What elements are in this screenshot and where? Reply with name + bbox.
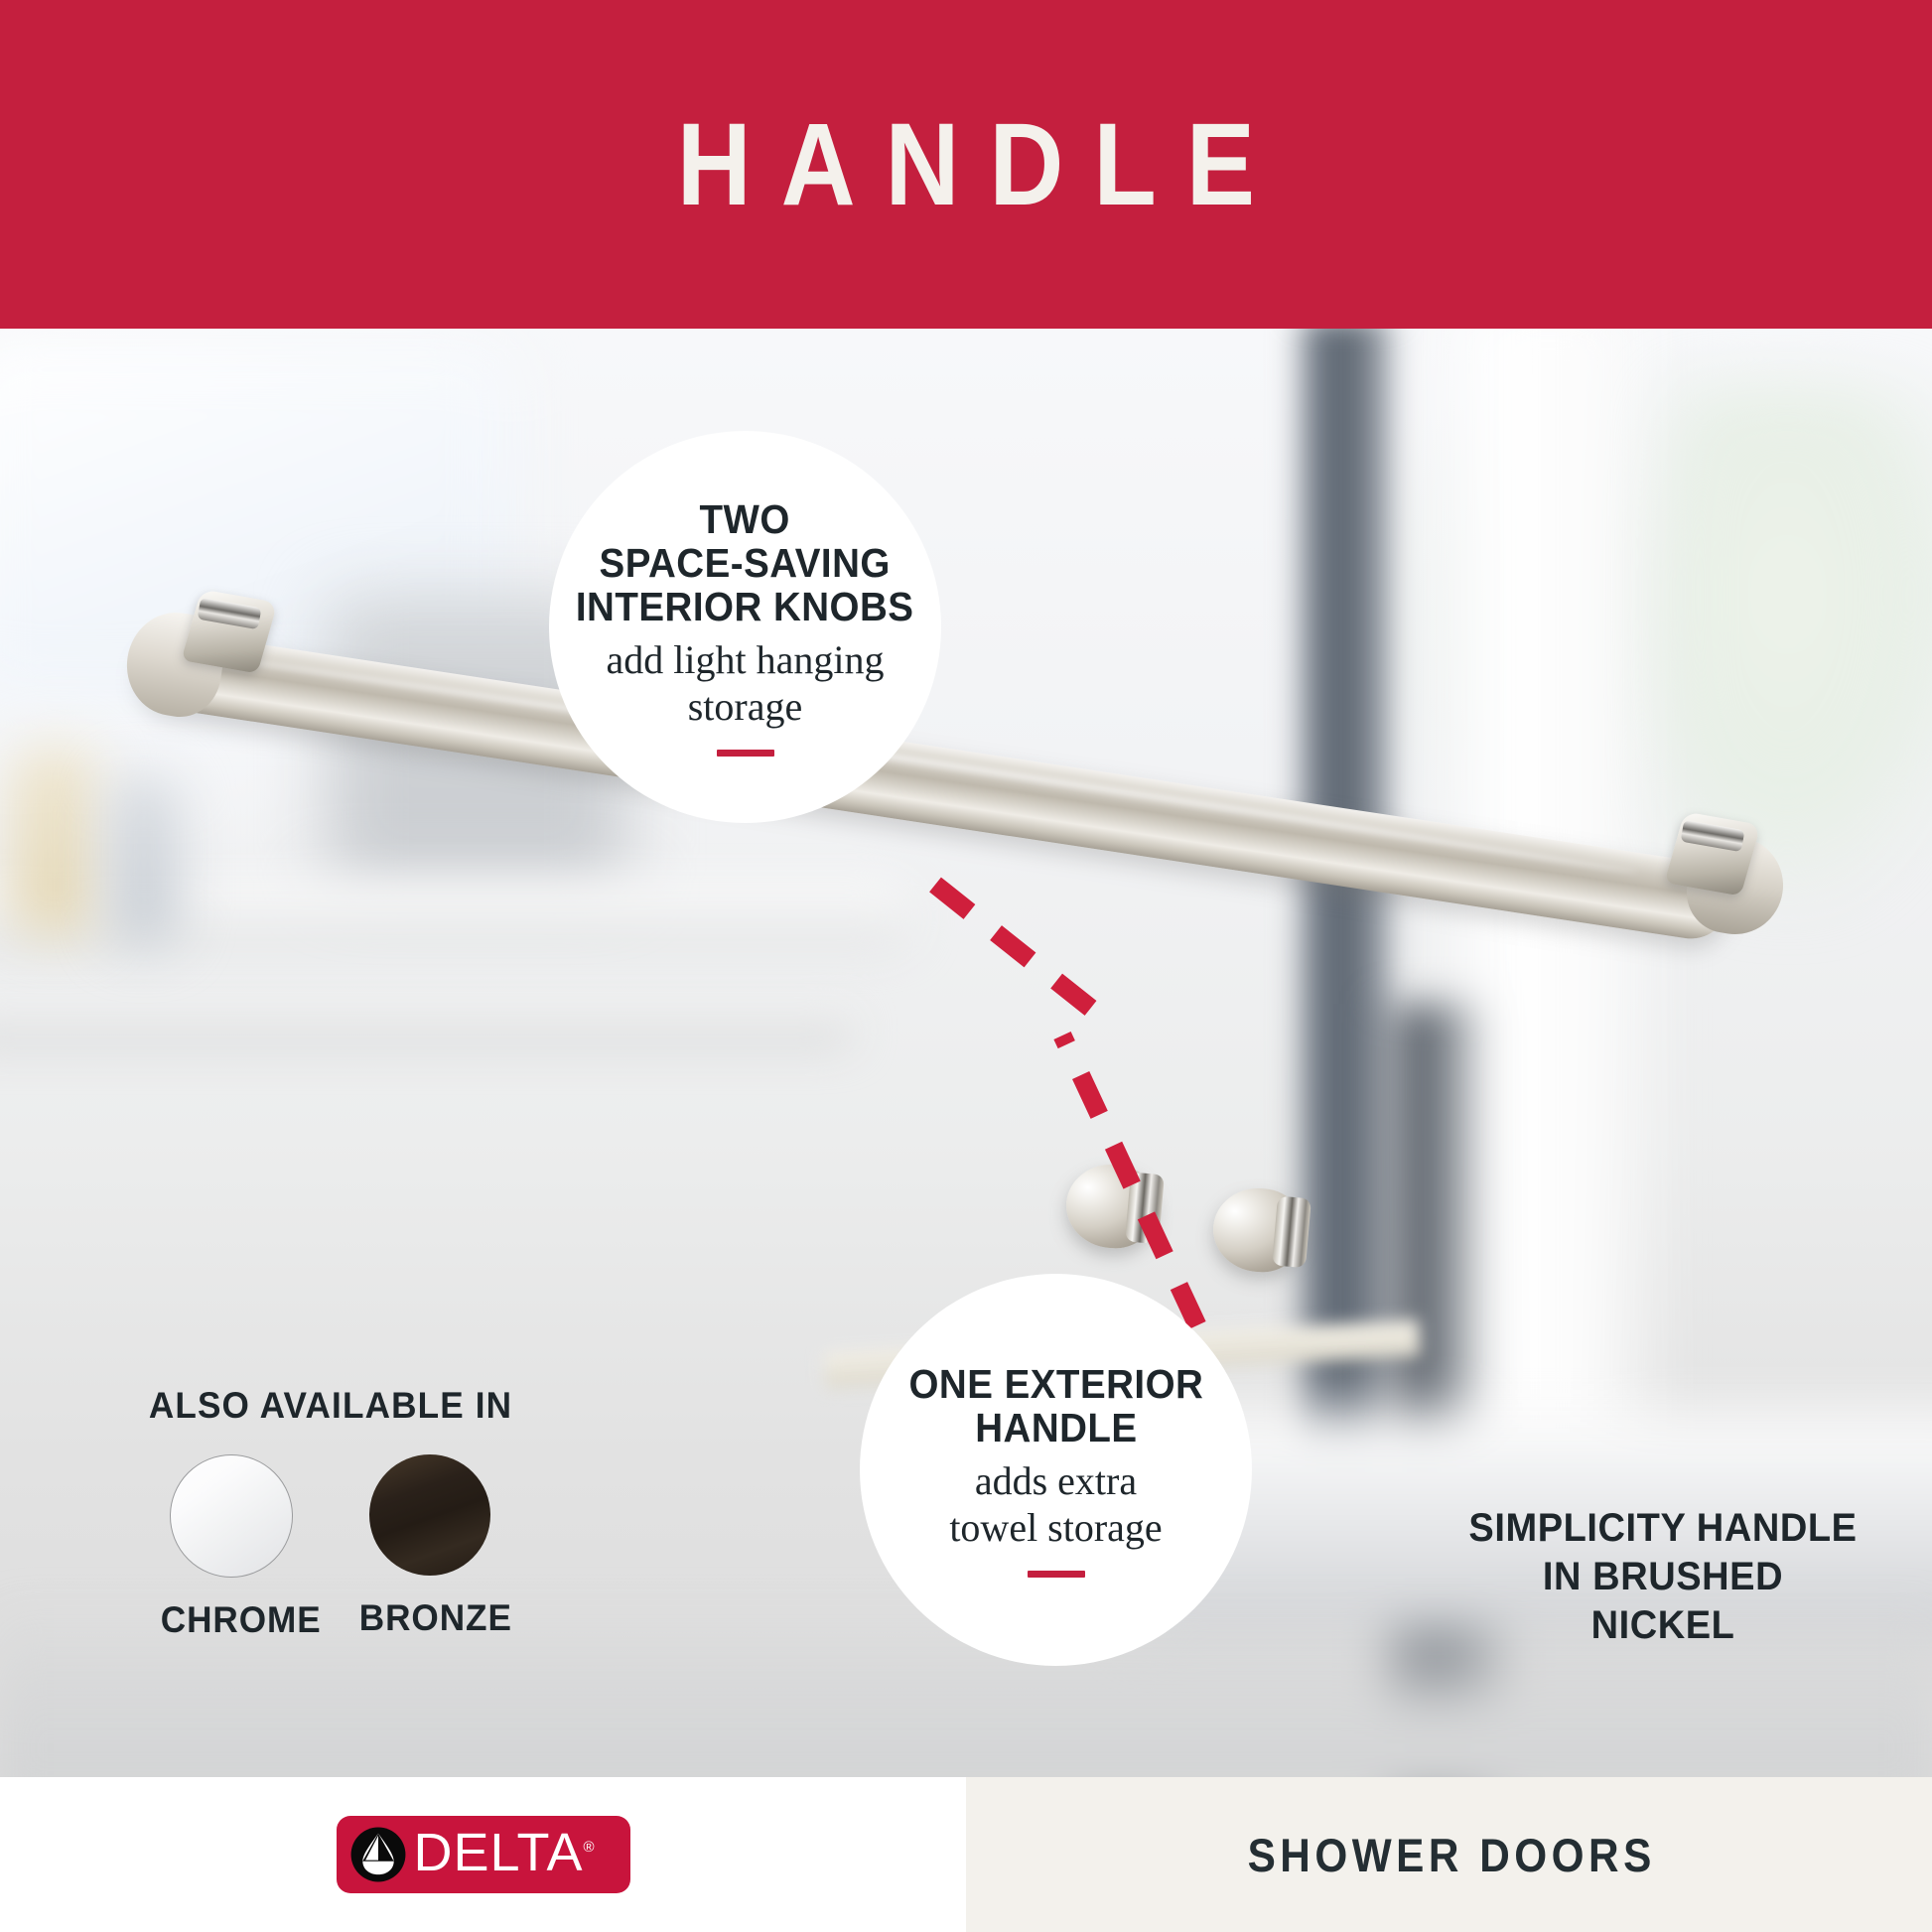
finish-label: BRONZE bbox=[359, 1597, 501, 1639]
footer-brand-area: DELTA® bbox=[0, 1777, 966, 1932]
finish-option-chrome[interactable]: CHROME bbox=[157, 1454, 306, 1641]
callout-subtext-line: adds extra bbox=[949, 1457, 1162, 1504]
marketing-infographic: HANDLE bbox=[0, 0, 1932, 1932]
callout-subtext-line: storage bbox=[607, 683, 885, 730]
bronze-swatch-icon bbox=[369, 1454, 490, 1576]
callout-interior-knobs: TWO SPACE-SAVING INTERIOR KNOBS add ligh… bbox=[549, 431, 941, 823]
callout-headline-line: INTERIOR KNOBS bbox=[576, 585, 914, 628]
callout-headline-line: ONE EXTERIOR bbox=[908, 1362, 1203, 1406]
callout-headline: ONE EXTERIOR HANDLE bbox=[908, 1362, 1203, 1450]
callout-headline: TWO SPACE-SAVING INTERIOR KNOBS bbox=[576, 497, 914, 629]
callout-subtext-line: add light hanging bbox=[607, 636, 885, 683]
callout-subtext: add light hanging storage bbox=[607, 636, 885, 730]
footer-category-label: SHOWER DOORS bbox=[1243, 1828, 1656, 1882]
delta-wordmark-text: DELTA bbox=[414, 1823, 584, 1882]
product-caption-line: SIMPLICITY HANDLE bbox=[1455, 1504, 1870, 1553]
callout-exterior-handle: ONE EXTERIOR HANDLE adds extra towel sto… bbox=[860, 1274, 1252, 1666]
finish-label: CHROME bbox=[161, 1599, 303, 1641]
callout-headline-line: TWO bbox=[576, 497, 914, 541]
finish-options: ALSO AVAILABLE IN CHROME BRONZE bbox=[137, 1385, 524, 1641]
registered-mark: ® bbox=[584, 1839, 595, 1856]
callout-subtext: adds extra towel storage bbox=[949, 1457, 1162, 1551]
product-caption-line: NICKEL bbox=[1455, 1601, 1870, 1650]
product-caption-line: IN BRUSHED bbox=[1455, 1553, 1870, 1601]
finish-swatch-row: CHROME BRONZE bbox=[137, 1454, 524, 1641]
product-caption: SIMPLICITY HANDLE IN BRUSHED NICKEL bbox=[1455, 1504, 1870, 1649]
callout-rule bbox=[717, 750, 774, 757]
delta-logo[interactable]: DELTA® bbox=[337, 1816, 630, 1893]
callout-subtext-line: towel storage bbox=[949, 1504, 1162, 1551]
header-banner: HANDLE bbox=[0, 0, 1932, 329]
leader-line-knobs bbox=[935, 885, 1100, 1016]
delta-triangle-droplet-icon bbox=[350, 1827, 406, 1882]
delta-wordmark: DELTA® bbox=[414, 1826, 595, 1879]
finish-options-title: ALSO AVAILABLE IN bbox=[147, 1385, 515, 1427]
footer-category-area: SHOWER DOORS bbox=[966, 1777, 1932, 1932]
finish-option-bronze[interactable]: BRONZE bbox=[355, 1454, 504, 1641]
callout-headline-line: SPACE-SAVING bbox=[576, 541, 914, 585]
page-title: HANDLE bbox=[647, 106, 1285, 223]
footer: DELTA® SHOWER DOORS bbox=[0, 1777, 1932, 1932]
callout-headline-line: HANDLE bbox=[908, 1406, 1203, 1449]
chrome-swatch-icon bbox=[170, 1454, 293, 1578]
callout-rule bbox=[1028, 1571, 1085, 1578]
